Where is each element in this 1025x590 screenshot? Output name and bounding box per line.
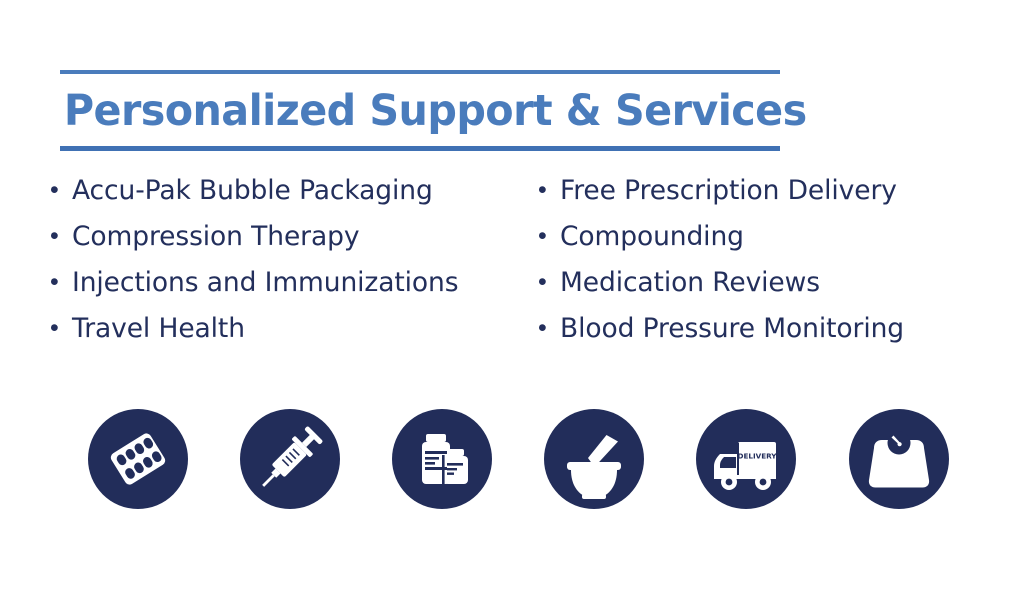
bullet-icon: • [50, 178, 72, 203]
list-item-label: Blood Pressure Monitoring [560, 316, 904, 343]
list-item: • Accu-Pak Bubble Packaging [50, 178, 538, 224]
services-graphic: { "header": { "title": "Personalized Sup… [0, 0, 1025, 590]
list-item-label: Travel Health [72, 316, 245, 343]
bullet-icon: • [50, 270, 72, 295]
truck-delivery-label: DELIVERY [738, 452, 778, 461]
icon-circle-pill-bottles [392, 409, 492, 509]
icon-circle-weight-scale [849, 409, 949, 509]
list-item: • Medication Reviews [538, 270, 990, 316]
list-item: • Compression Therapy [50, 224, 538, 270]
icon-row: DELIVERY [88, 409, 964, 509]
weight-scale-icon [849, 409, 949, 509]
list-item: • Blood Pressure Monitoring [538, 316, 990, 362]
delivery-truck-icon: DELIVERY [696, 409, 796, 509]
services-column-right: • Free Prescription Delivery • Compoundi… [538, 178, 990, 362]
bullet-icon: • [538, 178, 560, 203]
title-block: Personalized Support & Services [60, 70, 780, 151]
list-item-label: Free Prescription Delivery [560, 178, 897, 205]
icon-circle-blister-pack [88, 409, 188, 509]
bullet-icon: • [538, 224, 560, 249]
services-lists: • Accu-Pak Bubble Packaging • Compressio… [50, 178, 990, 362]
syringe-icon [240, 409, 340, 509]
bullet-icon: • [538, 270, 560, 295]
list-item: • Injections and Immunizations [50, 270, 538, 316]
list-item-label: Accu-Pak Bubble Packaging [72, 178, 433, 205]
list-item-label: Medication Reviews [560, 270, 820, 297]
list-item-label: Compression Therapy [72, 224, 359, 251]
pill-bottles-icon [392, 409, 492, 509]
bullet-icon: • [538, 316, 560, 341]
services-column-left: • Accu-Pak Bubble Packaging • Compressio… [50, 178, 538, 362]
icon-circle-syringe [240, 409, 340, 509]
bullet-icon: • [50, 224, 72, 249]
page-title: Personalized Support & Services [60, 74, 751, 146]
list-item-label: Compounding [560, 224, 744, 251]
icon-circle-delivery-truck: DELIVERY [696, 409, 796, 509]
list-item-label: Injections and Immunizations [72, 270, 458, 297]
mortar-and-pestle-icon [544, 409, 644, 509]
list-item: • Free Prescription Delivery [538, 178, 990, 224]
blister-pack-icon [88, 409, 188, 509]
icon-circle-mortar-pestle [544, 409, 644, 509]
bullet-icon: • [50, 316, 72, 341]
list-item: • Travel Health [50, 316, 538, 362]
list-item: • Compounding [538, 224, 990, 270]
title-rule-bottom [60, 146, 780, 151]
